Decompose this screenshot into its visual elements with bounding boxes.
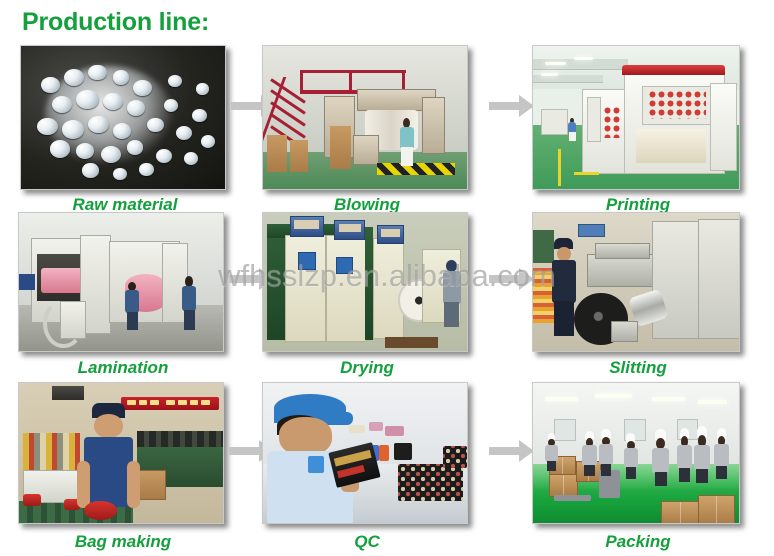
step-card-blowing[interactable]: Blowing: [262, 45, 472, 210]
photo-film-blowing-machine: [262, 45, 468, 190]
photo-slitting-machine: [532, 212, 740, 352]
photo-lamination-machine: [18, 212, 224, 352]
scene-bag-making: [19, 383, 223, 523]
photo-gravure-printing-press: [532, 45, 740, 190]
step-card-drying[interactable]: Drying: [262, 212, 472, 374]
scene-slitting: [533, 213, 739, 351]
worker-figure: [599, 429, 613, 475]
page-title: Production line:: [22, 8, 209, 37]
step-card-raw-material[interactable]: Raw material: [20, 45, 230, 210]
photo-bag-making-workshop: [18, 382, 224, 524]
scene-raw-material: [21, 46, 225, 189]
worker-figure: [443, 260, 461, 326]
right-arrow-icon: [489, 440, 534, 462]
step-label-lamination: Lamination: [18, 358, 228, 378]
step-card-qc[interactable]: QC: [262, 382, 472, 547]
step-label-qc: QC: [262, 532, 472, 552]
worker-figure: [568, 118, 576, 141]
worker-figure: [582, 431, 596, 476]
step-card-bag-making[interactable]: Bag making: [18, 382, 228, 547]
worker-figure: [182, 276, 196, 328]
worker-figure: [125, 282, 139, 329]
scene-drying: [263, 213, 467, 351]
scene-packing: [533, 383, 739, 523]
photo-quality-control-check: [262, 382, 468, 524]
worker-figure: [694, 426, 710, 482]
step-card-packing[interactable]: Packing: [532, 382, 744, 547]
step-label-bag-making: Bag making: [18, 532, 228, 552]
scene-printing: [533, 46, 739, 189]
step-card-lamination[interactable]: Lamination: [18, 212, 228, 374]
step-label-drying: Drying: [262, 358, 472, 378]
worker-figure: [652, 429, 668, 485]
photo-packing-workshop: [532, 382, 740, 524]
step-label-slitting: Slitting: [532, 358, 744, 378]
worker-figure: [545, 433, 557, 469]
right-arrow-icon: [489, 268, 534, 290]
photo-plastic-resin-pellets: [20, 45, 226, 190]
scene-lamination: [19, 213, 223, 351]
step-card-slitting[interactable]: Slitting: [532, 212, 744, 374]
step-label-packing: Packing: [532, 532, 744, 552]
scene-qc: [263, 383, 467, 523]
production-line-diagram: Production line:: [0, 0, 774, 556]
scene-blowing: [263, 46, 467, 189]
worker-figure: [677, 428, 691, 481]
photo-drying-ovens: [262, 212, 468, 352]
right-arrow-icon: [489, 95, 534, 117]
worker-figure: [400, 118, 414, 165]
safety-banner: [121, 397, 219, 410]
worker-figure: [624, 433, 638, 478]
worker-figure: [714, 428, 728, 478]
step-card-printing[interactable]: Printing: [532, 45, 744, 210]
worker-figure: [552, 238, 577, 335]
